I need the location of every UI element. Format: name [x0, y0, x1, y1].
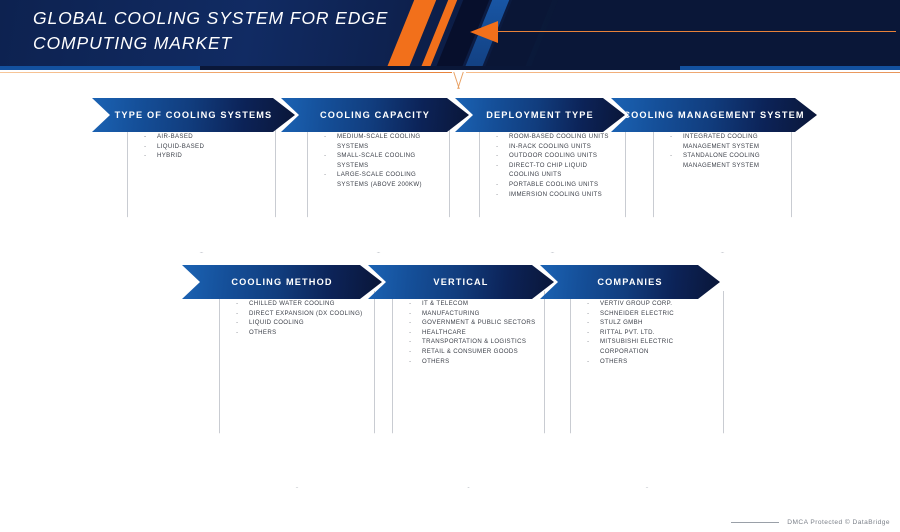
list-item: LARGE-SCALE COOLING SYSTEMS (ABOVE 200KW…	[322, 170, 443, 189]
panel-item-list: IT & TELECOMMANUFACTURINGGOVERNMENT & PU…	[407, 299, 538, 366]
panel-item-list: MEDIUM-SCALE COOLING SYSTEMSSMALL-SCALE …	[322, 132, 443, 190]
chevron-cooling-management-system[interactable]: COOLING MANAGEMENT SYSTEM	[611, 98, 817, 132]
divider-right-segment	[466, 72, 900, 73]
chevron-label: COOLING METHOD	[231, 277, 332, 287]
chevron-label: VERTICAL	[433, 277, 488, 287]
list-item: MITSUBISHI ELECTRIC CORPORATION	[585, 337, 717, 356]
header-banner: GLOBAL COOLING SYSTEM FOR EDGE COMPUTING…	[0, 0, 900, 70]
chevron-label: COOLING CAPACITY	[320, 110, 430, 120]
list-item: TRANSPORTATION & LOGISTICS	[407, 337, 538, 347]
list-item: MEDIUM-SCALE COOLING SYSTEMS	[322, 132, 443, 151]
list-item: RITTAL PVT. LTD.	[585, 328, 717, 338]
infographic-page: GLOBAL COOLING SYSTEM FOR EDGE COMPUTING…	[0, 0, 900, 532]
page-title: GLOBAL COOLING SYSTEM FOR EDGE COMPUTING…	[33, 6, 453, 56]
header-rule	[498, 31, 896, 32]
chevron-label: COOLING MANAGEMENT SYSTEM	[623, 110, 804, 120]
list-item: DIRECT-TO CHIP LIQUID COOLING UNITS	[494, 161, 619, 180]
chevron-vertical[interactable]: VERTICAL	[368, 265, 554, 299]
chevron-label: TYPE OF COOLING SYSTEMS	[115, 110, 273, 120]
list-item: OTHERS	[407, 357, 538, 367]
list-item: IMMERSION COOLING UNITS	[494, 190, 619, 200]
list-item: MANUFACTURING	[407, 309, 538, 319]
left-arrow-icon	[470, 21, 498, 43]
list-item: RETAIL & CONSUMER GOODS	[407, 347, 538, 357]
list-item: INTEGRATED COOLING MANAGEMENT SYSTEM	[668, 132, 785, 151]
list-item: AIR-BASED	[142, 132, 269, 142]
list-item: HEALTHCARE	[407, 328, 538, 338]
list-item: OUTDOOR COOLING UNITS	[494, 151, 619, 161]
list-item: VERTIV GROUP CORP.	[585, 299, 717, 309]
chevron-companies[interactable]: COMPANIES	[540, 265, 720, 299]
panel-deployment-type: ROOM-BASED COOLING UNITSIN-RACK COOLING …	[479, 124, 626, 253]
panel-item-list: VERTIV GROUP CORP.SCHNEIDER ELECTRICSTUL…	[585, 299, 717, 366]
footer: DMCA Protected © DataBridge	[731, 519, 890, 526]
panel-cooling-management-system: INTEGRATED COOLING MANAGEMENT SYSTEMSTAN…	[653, 124, 792, 253]
panel-cooling-method: CHILLED WATER COOLINGDIRECT EXPANSION (D…	[219, 291, 375, 488]
list-item: OTHERS	[234, 328, 368, 338]
chevron-label: COMPANIES	[597, 277, 662, 287]
chevron-label: DEPLOYMENT TYPE	[486, 110, 594, 120]
list-item: SCHNEIDER ELECTRIC	[585, 309, 717, 319]
list-item: IT & TELECOM	[407, 299, 538, 309]
list-item: STULZ GMBH	[585, 318, 717, 328]
chevron-deployment-type[interactable]: DEPLOYMENT TYPE	[455, 98, 625, 132]
panel-companies: VERTIV GROUP CORP.SCHNEIDER ELECTRICSTUL…	[570, 291, 724, 488]
list-item: STANDALONE COOLING MANAGEMENT SYSTEM	[668, 151, 785, 170]
panel-type-of-cooling-systems: AIR-BASEDLIQUID-BASEDHYBRID	[127, 124, 276, 253]
chevron-cooling-capacity[interactable]: COOLING CAPACITY	[281, 98, 469, 132]
panel-item-list: ROOM-BASED COOLING UNITSIN-RACK COOLING …	[494, 132, 619, 199]
divider-rule	[0, 72, 900, 94]
panel-item-list: INTEGRATED COOLING MANAGEMENT SYSTEMSTAN…	[668, 132, 785, 170]
header-bottom-edge-dark	[200, 66, 680, 70]
list-item: OTHERS	[585, 357, 717, 367]
panel-cooling-capacity: MEDIUM-SCALE COOLING SYSTEMSSMALL-SCALE …	[307, 124, 450, 253]
panel-item-list: AIR-BASEDLIQUID-BASEDHYBRID	[142, 132, 269, 161]
list-item: PORTABLE COOLING UNITS	[494, 180, 619, 190]
chevron-cooling-method[interactable]: COOLING METHOD	[182, 265, 382, 299]
list-item: LIQUID-BASED	[142, 142, 269, 152]
list-item: IN-RACK COOLING UNITS	[494, 142, 619, 152]
chevron-type-of-cooling-systems[interactable]: TYPE OF COOLING SYSTEMS	[92, 98, 295, 132]
list-item: CHILLED WATER COOLING	[234, 299, 368, 309]
panel-item-list: CHILLED WATER COOLINGDIRECT EXPANSION (D…	[234, 299, 368, 337]
list-item: HYBRID	[142, 151, 269, 161]
list-item: DIRECT EXPANSION (DX COOLING)	[234, 309, 368, 319]
list-item: LIQUID COOLING	[234, 318, 368, 328]
list-item: SMALL-SCALE COOLING SYSTEMS	[322, 151, 443, 170]
footer-rule	[731, 522, 779, 523]
footer-copyright: DMCA Protected © DataBridge	[787, 519, 890, 526]
list-item: ROOM-BASED COOLING UNITS	[494, 132, 619, 142]
header-stripe-navy	[502, 0, 900, 70]
divider-left-segment	[0, 72, 452, 73]
list-item: GOVERNMENT & PUBLIC SECTORS	[407, 318, 538, 328]
panel-vertical: IT & TELECOMMANUFACTURINGGOVERNMENT & PU…	[392, 291, 545, 488]
